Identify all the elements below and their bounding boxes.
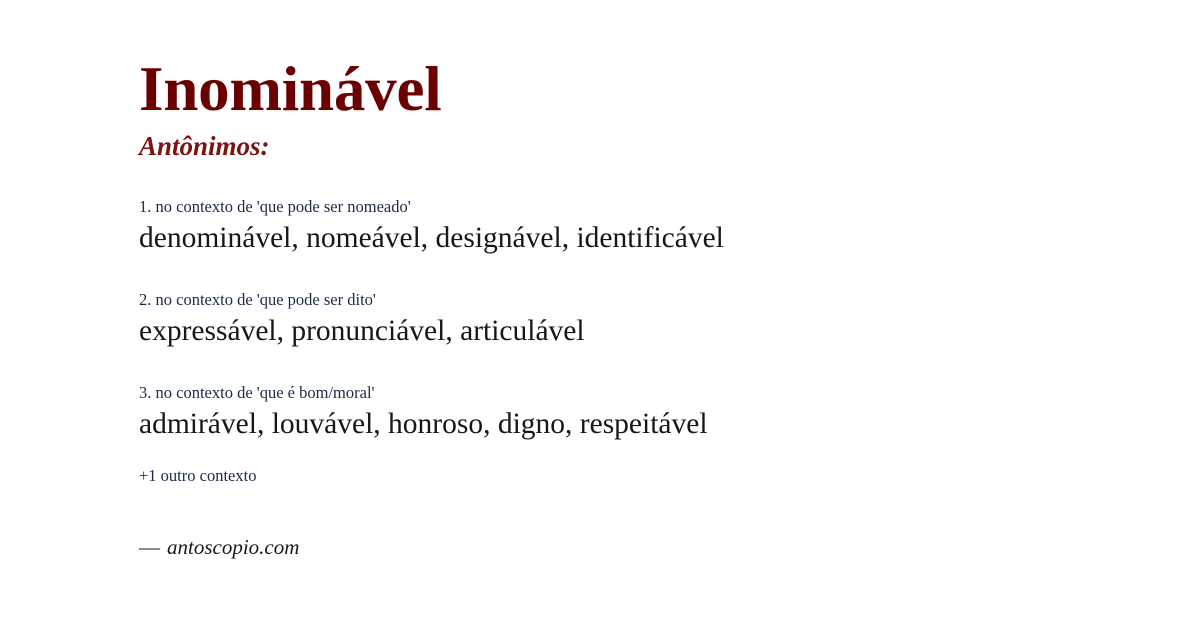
sense-list: 1. no contexto de 'que pode ser nomeado'… bbox=[139, 196, 1139, 475]
sense-terms: denominável, nomeável, designável, ident… bbox=[139, 220, 1139, 258]
sense-context-label: 1. no contexto de 'que pode ser nomeado' bbox=[139, 196, 1139, 218]
attribution: —antoscopio.com bbox=[139, 534, 299, 561]
source-name: antoscopio.com bbox=[167, 535, 299, 559]
list-item: 2. no contexto de 'que pode ser dito' ex… bbox=[139, 289, 1139, 351]
list-item: 3. no contexto de 'que é bom/moral' admi… bbox=[139, 382, 1139, 444]
more-contexts-note: +1 outro contexto bbox=[139, 465, 256, 486]
relation-type-label: Antônimos: bbox=[139, 133, 270, 160]
em-dash: — bbox=[139, 535, 160, 559]
dictionary-entry-card: Inominável Antônimos: 1. no contexto de … bbox=[0, 0, 1200, 628]
sense-terms: expressável, pronunciável, articulável bbox=[139, 313, 1139, 351]
page-title: Inominável bbox=[139, 58, 442, 121]
sense-context-label: 2. no contexto de 'que pode ser dito' bbox=[139, 289, 1139, 311]
sense-terms: admirável, louvável, honroso, digno, res… bbox=[139, 406, 1139, 444]
sense-context-label: 3. no contexto de 'que é bom/moral' bbox=[139, 382, 1139, 404]
list-item: 1. no contexto de 'que pode ser nomeado'… bbox=[139, 196, 1139, 258]
